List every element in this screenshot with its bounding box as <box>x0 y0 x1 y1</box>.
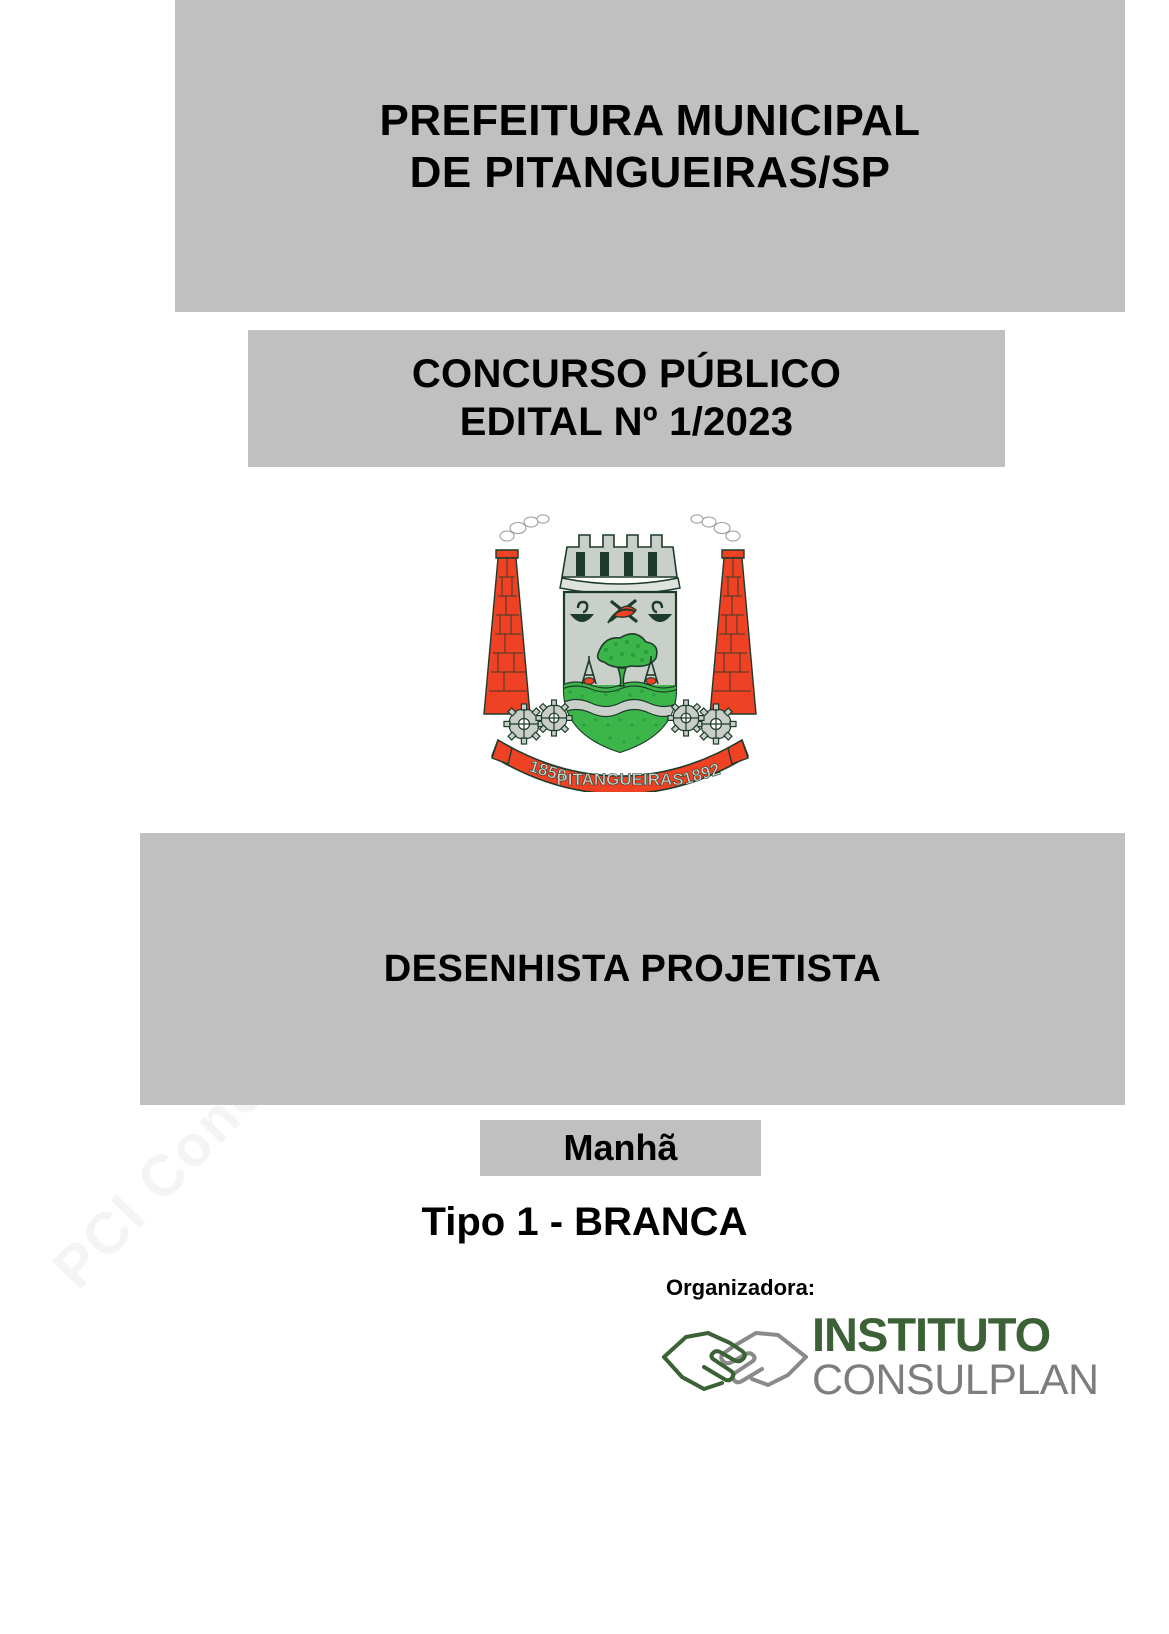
shift-label: Manhã <box>563 1127 677 1169</box>
position-banner: DESENHISTA PROJETISTA <box>140 833 1125 1105</box>
coat-of-arms-icon: 1858 PITANGUEIRAS 1892 <box>470 492 770 792</box>
watermark: PCI Concursos <box>60 1105 490 1465</box>
contest-banner: CONCURSO PÚBLICO EDITAL Nº 1/2023 <box>248 330 1005 467</box>
shift-banner: Manhã <box>480 1120 761 1176</box>
municipality-title: PREFEITURA MUNICIPAL DE PITANGUEIRAS/SP <box>380 95 921 199</box>
organizer-block: Organizadora: INSTITUTO CONSULPLAN <box>660 1275 1130 1401</box>
position-title: DESENHISTA PROJETISTA <box>384 947 882 992</box>
municipality-line-2: DE PITANGUEIRAS/SP <box>410 148 891 197</box>
municipality-banner: PREFEITURA MUNICIPAL DE PITANGUEIRAS/SP <box>175 0 1125 312</box>
organizer-label: Organizadora: <box>666 1275 1130 1301</box>
contest-line-2: EDITAL Nº 1/2023 <box>460 400 794 444</box>
svg-text:1892: 1892 <box>681 760 723 789</box>
contest-line-1: CONCURSO PÚBLICO <box>412 352 841 396</box>
svg-text:PITANGUEIRAS: PITANGUEIRAS <box>556 770 683 789</box>
contest-title: CONCURSO PÚBLICO EDITAL Nº 1/2023 <box>412 351 841 445</box>
booklet-type-label: Tipo 1 - BRANCA <box>0 1200 1169 1245</box>
handshake-icon <box>660 1313 810 1401</box>
brand-primary: INSTITUTO <box>812 1313 1099 1358</box>
organizer-logo: INSTITUTO CONSULPLAN <box>660 1313 1130 1401</box>
exam-cover-page: PCI Concursos PREFEITURA MUNICIPAL DE PI… <box>0 0 1169 1634</box>
organizer-wordmark: INSTITUTO CONSULPLAN <box>812 1313 1099 1400</box>
brand-secondary: CONSULPLAN <box>812 1360 1099 1401</box>
municipality-line-1: PREFEITURA MUNICIPAL <box>380 96 921 145</box>
